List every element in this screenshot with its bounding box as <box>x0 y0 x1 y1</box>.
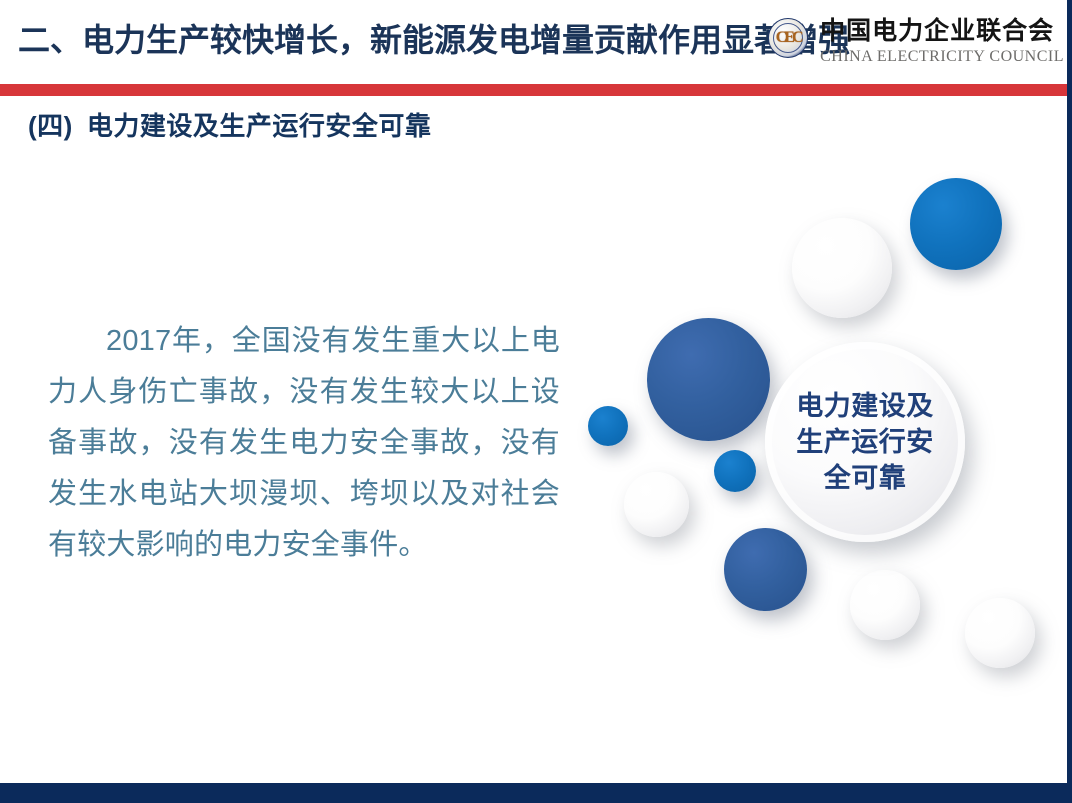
circle-white-lower-left <box>624 472 689 537</box>
page-title: 二、电力生产较快增长，新能源发电增量贡献作用显著增强 <box>18 18 818 62</box>
circle-blue-bright-small-left <box>588 406 628 446</box>
section-heading: (四)电力建设及生产运行安全可靠 <box>28 106 431 143</box>
circle-blue-dark-bottom <box>724 528 807 611</box>
main-label-circle: 电力建设及 生产运行安 全可靠 <box>765 342 965 542</box>
circle-blue-bright-mid <box>714 450 756 492</box>
section-number: (四) <box>28 111 73 141</box>
main-label-circle-text: 电力建设及 生产运行安 全可靠 <box>796 388 934 496</box>
header-red-divider <box>0 84 1072 96</box>
right-edge-border <box>1067 0 1072 803</box>
logo-name-english: CHINA ELECTRICITY COUNCIL <box>820 47 1064 67</box>
circle-white-bottom-right <box>965 598 1035 668</box>
decorative-circle-graphic: 电力建设及 生产运行安 全可靠 <box>560 150 1072 710</box>
organization-logo: CEC 中国电力企业联合会 CHINA ELECTRICITY COUNCIL <box>768 16 1064 78</box>
cec-seal-icon: CEC <box>768 18 808 58</box>
logo-name-chinese: 中国电力企业联合会 <box>820 16 1064 46</box>
logo-text: 中国电力企业联合会 CHINA ELECTRICITY COUNCIL <box>820 16 1064 67</box>
slide-canvas: 二、电力生产较快增长，新能源发电增量贡献作用显著增强 CEC 中国电力企业联合会… <box>0 0 1072 803</box>
body-paragraph: 2017年，全国没有发生重大以上电力人身伤亡事故，没有发生较大以上设备事故，没有… <box>48 316 560 571</box>
circle-white-bottom-mid <box>850 570 920 640</box>
slide-header: 二、电力生产较快增长，新能源发电增量贡献作用显著增强 CEC 中国电力企业联合会… <box>0 0 1072 84</box>
circle-white-upper <box>792 218 892 318</box>
footer-band <box>0 783 1072 803</box>
circle-blue-dark-large-left <box>647 318 770 441</box>
section-title: 电力建设及生产运行安全可靠 <box>87 111 432 141</box>
circle-blue-bright-top-right <box>910 178 1002 270</box>
cec-seal-letters: CEC <box>769 19 807 57</box>
